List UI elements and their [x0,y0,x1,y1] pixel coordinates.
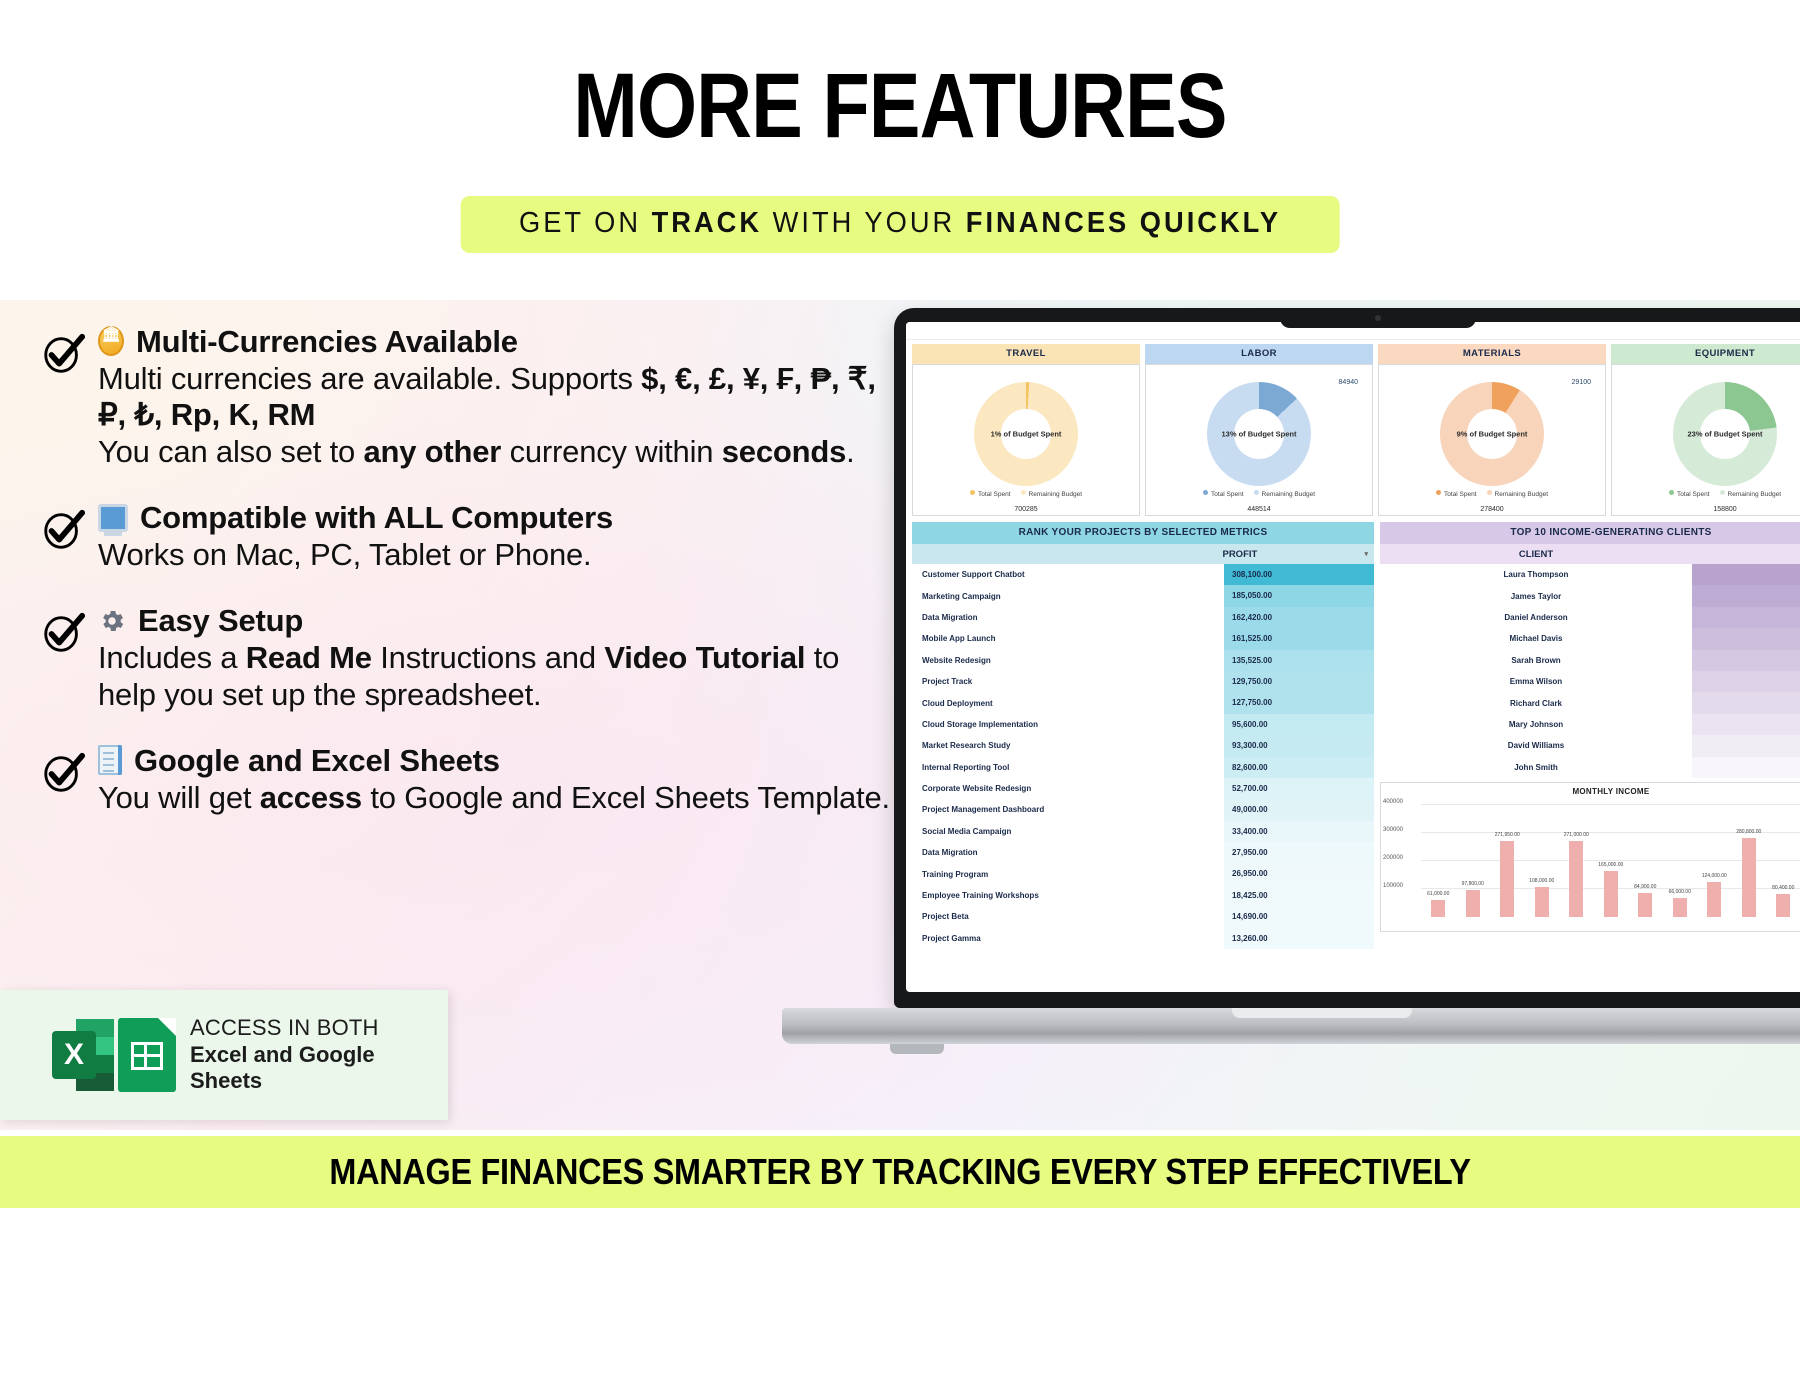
profit-cell: 27,950.00 [1224,842,1374,863]
table-row: John Smith92,0 [1380,757,1800,778]
feature-heading-text: Google and Excel Sheets [134,743,500,778]
google-sheets-icon [118,1018,176,1092]
table-row: Website Redesign135,525.00 [912,650,1374,671]
donut-card-title: TRAVEL [912,344,1140,364]
excel-icon: X [52,1019,114,1091]
bar-value-label: 80,400.00 [1772,885,1794,891]
client-total-cell: 146, [1692,692,1800,713]
donut-card-title: EQUIPMENT [1611,344,1800,364]
checkmark-icon [40,508,86,554]
bar: 108,000.00 [1535,887,1549,917]
subtitle-text: GET ON TRACK WITH YOUR FINANCES QUICKLY [519,207,1281,240]
profit-cell: 49,000.00 [1224,799,1374,820]
table-row: Mary Johnson135, [1380,714,1800,735]
panels-row: RANK YOUR PROJECTS BY SELECTED METRICS P… [906,516,1800,949]
budget-donut-card-1: TRAVEL1% of Budget Spent700285Total Spen… [912,344,1140,516]
bar-value-label: 165,000.00 [1598,862,1623,868]
client-total-cell: 92,0 [1692,757,1800,778]
table-row: Corporate Website Redesign52,700.00 [912,778,1374,799]
client-total-cell: 218, [1692,628,1800,649]
bar: 66,000.00 [1673,898,1687,916]
client-name-cell: Michael Davis [1380,634,1692,643]
legend-remaining-budget: Remaining Budget [1021,490,1082,498]
client-total-cell: 135, [1692,714,1800,735]
feature-heading: Easy Setup [98,603,902,640]
project-name-cell: Corporate Website Redesign [912,784,1224,793]
feature-heading: Google and Excel Sheets [98,743,902,780]
badge-line-1: ACCESS IN BOTH [190,1015,448,1041]
table-row: Daniel Anderson222, [1380,607,1800,628]
clients-panel-title: TOP 10 INCOME-GENERATING CLIENTS [1380,522,1800,544]
legend-remaining-budget: Remaining Budget [1254,490,1315,498]
rank-table-header: PROFIT ▾ [912,544,1374,564]
donut-spent-value: 84940 [1339,379,1358,386]
bar: 84,900.00 [1638,893,1652,917]
bar: 124,000.00 [1707,882,1721,917]
table-row: Laura Thompson318, [1380,564,1800,585]
client-name-cell: Mary Johnson [1380,720,1692,729]
laptop-lid: TRAVEL1% of Budget Spent700285Total Spen… [894,308,1800,1008]
table-row: Customer Support Chatbot308,100.00 [912,564,1374,585]
project-name-cell: Market Research Study [912,741,1224,750]
client-name-cell: Sarah Brown [1380,656,1692,665]
checkmark-icon [40,751,86,797]
donut-total-value: 158800 [1612,506,1800,513]
project-name-cell: Customer Support Chatbot [912,570,1224,579]
donut-card-body: 1% of Budget Spent700285Total SpentRemai… [912,364,1140,516]
bar-value-label: 97,800.00 [1462,881,1484,887]
bar-value-label: 61,000.00 [1427,891,1449,897]
clients-table-header: CLIENT TOTAL [1380,544,1800,564]
donut-ring: 13% of Budget Spent [1207,382,1311,486]
feature-list: Multi-Currencies AvailableMulti currenci… [22,324,902,846]
project-name-cell: Project Track [912,677,1224,686]
donut-ring: 9% of Budget Spent [1440,382,1544,486]
donut-total-value: 448514 [1146,506,1372,513]
coin-icon [98,326,124,356]
project-name-cell: Project Beta [912,912,1224,921]
table-row: Michael Davis218, [1380,628,1800,649]
table-row: Project Beta14,690.00 [912,906,1374,927]
feature-heading-text: Multi-Currencies Available [136,324,518,359]
legend-total-spent: Total Spent [1203,490,1244,498]
legend-remaining-budget: Remaining Budget [1487,490,1548,498]
donut-ring: 23% of Budget Spent [1673,382,1777,486]
donut-card-title: MATERIALS [1378,344,1606,364]
rank-table-body: Customer Support Chatbot308,100.00Market… [912,564,1374,949]
donut-card-body: 23% of Budget Spent158800Total SpentRema… [1611,364,1800,516]
profit-cell: 82,600.00 [1224,757,1374,778]
bar-value-label: 280,800.00 [1736,829,1761,835]
checkmark-icon [40,611,86,657]
feature-item-2: Compatible with ALL ComputersWorks on Ma… [22,500,902,573]
client-total-cell: 181, [1692,671,1800,692]
table-row: David Williams120, [1380,735,1800,756]
budget-donut-card-4: EQUIPMENT23% of Budget Spent158800Total … [1611,344,1800,516]
bar-value-label: 124,000.00 [1702,873,1727,879]
monitor-icon [98,504,128,532]
client-total-cell: 232, [1692,585,1800,606]
legend-total-spent: Total Spent [1669,490,1710,498]
table-row: Cloud Storage Implementation95,600.00 [912,714,1374,735]
bar-value-label: 108,000.00 [1529,878,1554,884]
profit-cell: 308,100.00 [1224,564,1374,585]
project-name-cell: Social Media Campaign [912,827,1224,836]
client-name-cell: James Taylor [1380,592,1692,601]
client-name-cell: Daniel Anderson [1380,613,1692,622]
table-row: James Taylor232, [1380,585,1800,606]
bar-value-label: 271,000.00 [1564,832,1589,838]
client-name-cell: Richard Clark [1380,699,1692,708]
profit-cell: 33,400.00 [1224,821,1374,842]
profit-cell: 26,950.00 [1224,863,1374,884]
bar: 97,800.00 [1466,890,1480,917]
bar: 61,000.00 [1431,900,1445,917]
donut-center-label: 23% of Budget Spent [1673,430,1777,439]
checkmark-icon [40,332,86,378]
monthly-income-chart: MONTHLY INCOME 4000003000002000001000006… [1380,782,1800,932]
bar: 271,950.00 [1500,841,1514,917]
table-row: Data Migration27,950.00 [912,842,1374,863]
bar: 165,000.00 [1604,871,1618,917]
budget-donut-card-3: MATERIALS9% of Budget Spent29100278400To… [1378,344,1606,516]
feature-description: Multi currencies are available. Supports… [98,361,902,434]
bar-value-label: 84,900.00 [1634,884,1656,890]
profit-cell: 185,050.00 [1224,585,1374,606]
gear-icon [98,607,126,635]
table-row: Social Media Campaign33,400.00 [912,821,1374,842]
feature-description: You can also set to any other currency w… [98,434,902,471]
footer-text: MANAGE FINANCES SMARTER BY TRACKING EVER… [329,1151,1470,1193]
project-name-cell: Website Redesign [912,656,1224,665]
excel-icon-letter: X [52,1031,96,1079]
subtitle-pill: GET ON TRACK WITH YOUR FINANCES QUICKLY [461,196,1340,253]
project-name-cell: Employee Training Workshops [912,891,1224,900]
legend-total-spent: Total Spent [970,490,1011,498]
project-name-cell: Marketing Campaign [912,592,1224,601]
budget-donut-card-2: LABOR13% of Budget Spent84940448514Total… [1145,344,1373,516]
chevron-down-icon[interactable]: ▾ [1364,550,1374,558]
bar-series: 61,000.0097,800.00271,950.00108,000.0027… [1421,805,1800,917]
feature-description: Includes a Read Me Instructions and Vide… [98,640,902,713]
y-tick-label: 100000 [1383,883,1403,889]
profit-cell: 129,750.00 [1224,671,1374,692]
legend-remaining-budget: Remaining Budget [1720,490,1781,498]
client-name-cell: John Smith [1380,763,1692,772]
table-row: Sarah Brown188, [1380,650,1800,671]
feature-item-3: Easy SetupIncludes a Read Me Instruction… [22,603,902,713]
feature-heading: Compatible with ALL Computers [98,500,902,537]
rank-panel-title: RANK YOUR PROJECTS BY SELECTED METRICS [912,522,1374,544]
laptop-base [782,1008,1800,1044]
project-name-cell: Cloud Storage Implementation [912,720,1224,729]
table-row: Mobile App Launch161,525.00 [912,628,1374,649]
client-total-cell: 120, [1692,735,1800,756]
footer-banner: MANAGE FINANCES SMARTER BY TRACKING EVER… [0,1136,1800,1208]
donut-legend: Total SpentRemaining Budget [1669,490,1781,498]
feature-heading: Multi-Currencies Available [98,324,902,361]
top-clients-panel: TOP 10 INCOME-GENERATING CLIENTS CLIENT … [1380,522,1800,949]
laptop-foot [890,1044,944,1054]
bar-value-label: 66,000.00 [1669,889,1691,895]
bar: 271,000.00 [1569,841,1583,917]
project-name-cell: Mobile App Launch [912,634,1224,643]
project-name-cell: Training Program [912,870,1224,879]
table-row: Cloud Deployment127,750.00 [912,692,1374,713]
table-row: Training Program26,950.00 [912,863,1374,884]
table-row: Employee Training Workshops18,425.00 [912,885,1374,906]
spreadsheet-app: TRAVEL1% of Budget Spent700285Total Spen… [906,322,1800,992]
clients-col-total: TOTAL [1692,549,1800,560]
donut-total-value: 278400 [1379,506,1605,513]
project-name-cell: Project Management Dashboard [912,805,1224,814]
feature-item-4: Google and Excel SheetsYou will get acce… [22,743,902,816]
client-total-cell: 222, [1692,607,1800,628]
table-row: Internal Reporting Tool82,600.00 [912,757,1374,778]
y-tick-label: 400000 [1383,799,1403,805]
y-tick-label: 300000 [1383,827,1403,833]
feature-item-1: Multi-Currencies AvailableMulti currenci… [22,324,902,470]
donut-card-title: LABOR [1145,344,1373,364]
donut-legend: Total SpentRemaining Budget [1436,490,1548,498]
feature-heading-text: Easy Setup [138,603,303,638]
table-row: Project Gamma13,260.00 [912,928,1374,949]
project-name-cell: Cloud Deployment [912,699,1224,708]
table-row: Project Management Dashboard49,000.00 [912,799,1374,820]
access-badge: X ACCESS IN BOTH Excel and Google Sheets [0,990,448,1120]
project-name-cell: Data Migration [912,613,1224,622]
laptop-screen: TRAVEL1% of Budget Spent700285Total Spen… [906,322,1800,992]
laptop-mockup: TRAVEL1% of Budget Spent700285Total Spen… [782,308,1800,1068]
clients-col-client: CLIENT [1380,549,1692,560]
donut-center-label: 9% of Budget Spent [1440,430,1544,439]
badge-logos: X [52,1018,176,1092]
donut-center-label: 1% of Budget Spent [974,430,1078,439]
client-name-cell: Laura Thompson [1380,570,1692,579]
table-row: Richard Clark146, [1380,692,1800,713]
bar: 280,800.00 [1742,838,1756,917]
bar-value-label: 271,950.00 [1495,832,1520,838]
table-row: Emma Wilson181, [1380,671,1800,692]
client-total-cell: 318, [1692,564,1800,585]
profit-cell: 162,420.00 [1224,607,1374,628]
feature-heading-text: Compatible with ALL Computers [140,500,613,535]
donut-legend: Total SpentRemaining Budget [970,490,1082,498]
monthly-income-plot-area: 40000030000020000010000061,000.0097,800.… [1421,805,1800,917]
table-row: Marketing Campaign185,050.00 [912,585,1374,606]
client-name-cell: Emma Wilson [1380,677,1692,686]
project-name-cell: Project Gamma [912,934,1224,943]
profit-cell: 14,690.00 [1224,906,1374,927]
donut-legend: Total SpentRemaining Budget [1203,490,1315,498]
legend-total-spent: Total Spent [1436,490,1477,498]
monthly-income-chart-title: MONTHLY INCOME [1385,787,1800,796]
bar: 80,400.00 [1776,894,1790,917]
donut-center-label: 13% of Budget Spent [1207,430,1311,439]
donut-spent-value: 29100 [1572,379,1591,386]
profit-cell: 13,260.00 [1224,928,1374,949]
table-row: Market Research Study93,300.00 [912,735,1374,756]
badge-line-2: Excel and Google Sheets [190,1042,448,1095]
profit-cell: 161,525.00 [1224,628,1374,649]
content-section: Multi-Currencies AvailableMulti currenci… [0,300,1800,1130]
page-title: MORE FEATURES [144,58,1656,155]
feature-description: Works on Mac, PC, Tablet or Phone. [98,537,902,574]
donut-total-value: 700285 [913,506,1139,513]
client-name-cell: David Williams [1380,741,1692,750]
donut-ring: 1% of Budget Spent [974,382,1078,486]
profit-cell: 127,750.00 [1224,692,1374,713]
table-row: Project Track129,750.00 [912,671,1374,692]
profit-cell: 135,525.00 [1224,650,1374,671]
donut-card-body: 9% of Budget Spent29100278400Total Spent… [1378,364,1606,516]
profit-cell: 95,600.00 [1224,714,1374,735]
profit-cell: 18,425.00 [1224,885,1374,906]
profit-cell: 93,300.00 [1224,735,1374,756]
table-row: Data Migration162,420.00 [912,607,1374,628]
footer-section: MANAGE FINANCES SMARTER BY TRACKING EVER… [0,1130,1800,1384]
budget-donut-row: TRAVEL1% of Budget Spent700285Total Spen… [906,340,1800,516]
profit-cell: 52,700.00 [1224,778,1374,799]
badge-text: ACCESS IN BOTH Excel and Google Sheets [190,1015,448,1094]
clients-table-body: Laura Thompson318,James Taylor232,Daniel… [1380,564,1800,778]
client-total-cell: 188, [1692,650,1800,671]
header-section: MORE FEATURES GET ON TRACK WITH YOUR FIN… [0,0,1800,300]
rank-col-profit: PROFIT [1214,549,1364,560]
project-name-cell: Data Migration [912,848,1224,857]
y-tick-label: 200000 [1383,855,1403,861]
project-name-cell: Internal Reporting Tool [912,763,1224,772]
laptop-notch-camera [1280,308,1476,328]
feature-description: You will get access to Google and Excel … [98,780,902,817]
rank-projects-panel: RANK YOUR PROJECTS BY SELECTED METRICS P… [912,522,1374,949]
notepad-icon [98,745,122,775]
donut-card-body: 13% of Budget Spent84940448514Total Spen… [1145,364,1373,516]
